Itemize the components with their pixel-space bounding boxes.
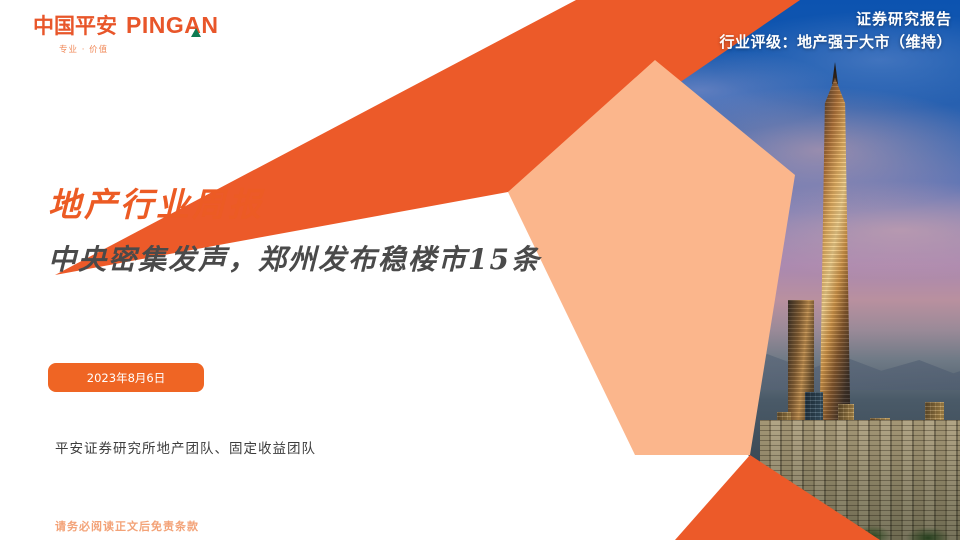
- report-header: 证券研究报告 行业评级：地产强于大市（维持）: [719, 8, 952, 53]
- report-type-label: 证券研究报告: [719, 8, 952, 31]
- logo-english-name: PINGAN: [126, 14, 218, 37]
- logo-tagline: 专业 · 价值: [59, 43, 233, 55]
- research-team-label: 平安证券研究所地产团队、固定收益团队: [55, 437, 316, 457]
- logo-english-text: PINGAN: [126, 12, 218, 38]
- disclaimer-note: 请务必阅读正文后免责条款: [55, 518, 199, 534]
- logo-chinese-name: 中国平安: [33, 16, 117, 37]
- industry-rating-label: 行业评级：地产强于大市（维持）: [719, 31, 952, 54]
- logo-wordmark: 中国平安 PINGAN: [33, 14, 233, 37]
- page-title: 地产行业周报: [48, 178, 264, 226]
- tree-canopy: [760, 510, 960, 540]
- report-cover-slide: 中国平安 PINGAN 专业 · 价值 证券研究报告 行业评级：地产强于大市（维…: [0, 0, 960, 540]
- page-subtitle: 中央密集发声，郑州发布稳楼市15条: [48, 238, 541, 278]
- green-triangle-a-icon: [191, 28, 201, 37]
- publish-date-badge: 2023年8月6日: [48, 363, 204, 392]
- pingan-logo[interactable]: 中国平安 PINGAN 专业 · 价值: [33, 14, 233, 60]
